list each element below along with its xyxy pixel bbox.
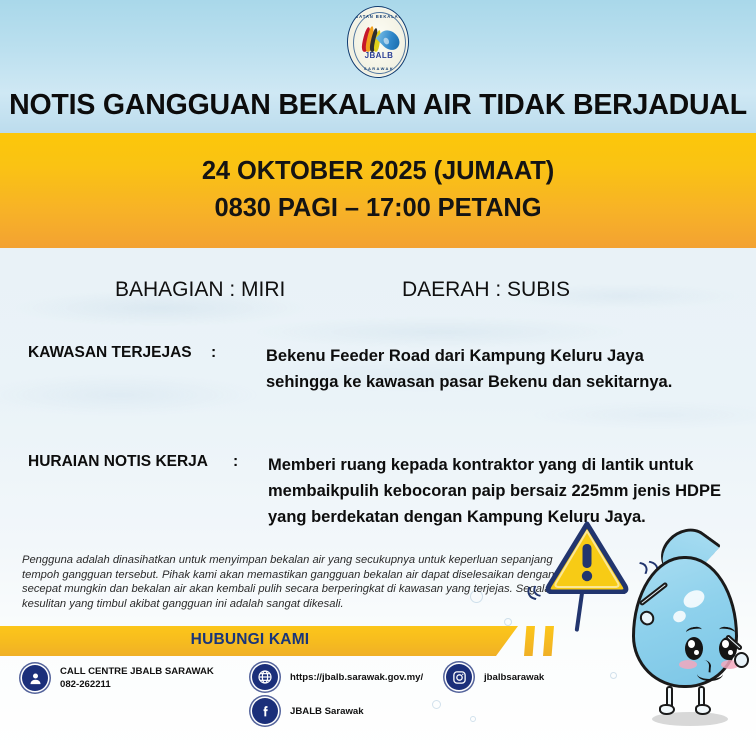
globe-website-icon — [252, 664, 278, 690]
facebook-icon — [252, 698, 278, 724]
logo-name-text: JBALB — [348, 51, 409, 60]
mascot-blush-left — [679, 660, 697, 669]
contact-call-centre-text: CALL CENTRE JBALB SARAWAK 082-262211 — [60, 665, 214, 691]
contact-item-website[interactable]: https://jbalb.sarawak.gov.my/ — [252, 664, 423, 690]
instagram-icon — [446, 664, 472, 690]
bar-slash-decoration — [524, 626, 535, 656]
logo-seal-icon: JABATAN BEKALAN AIR LUAR BANDAR JBALB SA… — [347, 6, 409, 78]
affected-area-value: Bekenu Feeder Road dari Kampung Keluru J… — [266, 343, 672, 395]
mascot-arm-left — [639, 582, 669, 607]
person-call-centre-icon — [22, 665, 48, 691]
notice-date: 24 OKTOBER 2025 (JUMAAT) — [0, 157, 756, 186]
mascot-highlight — [671, 609, 688, 625]
contact-instagram-text: jbalbsarawak — [484, 671, 544, 684]
affected-area-label: KAWASAN TERJEJAS — [28, 344, 192, 362]
date-time-banner: 24 OKTOBER 2025 (JUMAAT) 0830 PAGI – 17:… — [0, 133, 756, 248]
mascot-droplet-body — [632, 556, 738, 688]
bar-slash-decoration — [543, 626, 554, 656]
division-district-row: BAHAGIAN : MIRI DAERAH : SUBIS — [0, 278, 756, 306]
work-description-colon: : — [233, 453, 238, 471]
work-description-label: HURAIAN NOTIS KERJA — [28, 453, 208, 471]
bubble-decoration — [470, 716, 476, 722]
contact-bar-title: HUBUNGI KAMI — [0, 631, 500, 649]
bubble-decoration — [504, 618, 512, 626]
affected-area-colon: : — [211, 344, 216, 362]
mascot-mouth — [697, 667, 723, 681]
page-title: NOTIS GANGGUAN BEKALAN AIR TIDAK BERJADU… — [0, 89, 756, 122]
mascot-foot-right — [695, 704, 711, 715]
contact-facebook-text: JBALB Sarawak — [290, 705, 364, 718]
bubble-decoration — [432, 700, 441, 709]
notice-time-range: 0830 PAGI – 17:00 PETANG — [0, 194, 756, 223]
mascot-foot-left — [659, 704, 675, 715]
contact-website-text: https://jbalb.sarawak.gov.my/ — [290, 671, 423, 684]
contact-item-instagram[interactable]: jbalbsarawak — [446, 664, 544, 690]
poster-header: JABATAN BEKALAN AIR LUAR BANDAR JBALB SA… — [0, 0, 756, 133]
bahagian-label: BAHAGIAN : MIRI — [115, 278, 285, 302]
contact-item-call-centre[interactable]: CALL CENTRE JBALB SARAWAK 082-262211 — [22, 665, 214, 691]
contact-item-facebook[interactable]: JBALB Sarawak — [252, 698, 364, 724]
mascot-highlight — [681, 587, 708, 611]
jbalb-logo: JABATAN BEKALAN AIR LUAR BANDAR JBALB SA… — [347, 6, 409, 78]
logo-arc-top-text: JABATAN BEKALAN AIR LUAR BANDAR — [348, 14, 409, 19]
logo-arc-bottom-text: SARAWAK — [348, 66, 409, 71]
daerah-label: DAERAH : SUBIS — [402, 278, 570, 302]
contact-bar: HUBUNGI KAMI — [0, 626, 756, 656]
notice-poster: JABATAN BEKALAN AIR LUAR BANDAR JBALB SA… — [0, 0, 756, 756]
work-description-value: Memberi ruang kepada kontraktor yang di … — [268, 452, 721, 530]
disclaimer-text: Pengguna adalah dinasihatkan untuk menyi… — [22, 553, 584, 611]
